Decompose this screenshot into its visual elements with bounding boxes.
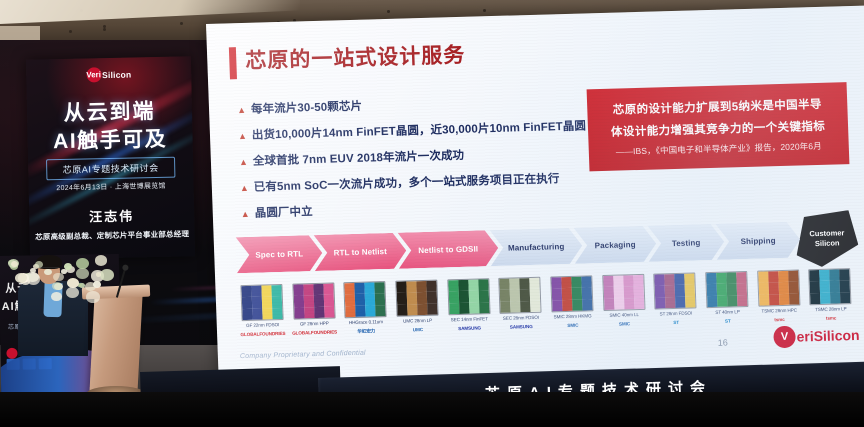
foundry-logo: UMC [413,326,423,333]
die-photo [240,284,283,321]
flow-stage-manufacturing[interactable]: Manufacturing [490,228,583,267]
die-photo [395,280,438,317]
verisilicon-logo-mark: V [773,326,796,349]
chip-caption: UMC 28nm LP [403,318,432,325]
chip-thumbnail: ST 40nm LPST [700,271,754,325]
flow-stage-label: Manufacturing [508,242,565,253]
ceiling-fixture [103,25,106,28]
foundry-logo: SMIC [619,320,630,327]
chip-thumbnail: UMC 28nm LPUMC [390,280,444,334]
flower [51,292,61,301]
verisilicon-logo-word: Silicon [102,69,131,80]
callout-line-2: 体设计能力增强其竞争力的一个关键指标 [611,118,826,140]
flower [66,287,79,298]
chip-thumbnail: GF 22nm FDSOIGLOBALFOUNDRIES [235,284,289,338]
flower [44,269,51,275]
triangle-bullet-icon: ▲ [239,155,248,169]
bullet-item: ▲已有5nm SoC一次流片成功，多个一站式服务项目正在执行 [240,171,590,195]
chip-thumbnail: SMIC 40nm LLSMIC [597,274,651,328]
verisilicon-logo-word: eriSilicon [796,327,860,345]
bullet-list: ▲每年流片30-50颗芯片▲出货10,000片14nm FinFET晶圆，近30… [237,93,592,233]
slide-surface: 芯原的一站式设计服务 ▲每年流片30-50颗芯片▲出货10,000片14nm F… [206,6,864,386]
foundry-logo: 华虹宏力 [357,327,375,334]
die-photo [808,268,851,305]
foundry-logo: tsmc [774,316,785,323]
chip-caption: TSMC 28nm HPC [761,308,797,315]
confidential-notice: Company Proprietary and Confidential [240,350,366,361]
foundry-logo: ST [725,317,731,324]
podium [89,290,143,398]
callout-box: 芯原的设计能力扩展到5纳米是中国半导 体设计能力增强其竞争力的一个关键指标 ——… [587,82,850,171]
bullet-text: 每年流片30-50颗芯片 [251,100,363,117]
flow-stage-shipping[interactable]: Shipping [715,222,800,260]
chip-thumbnail: GF 28nm HPPGLOBALFOUNDRIES [287,282,341,336]
flower [76,268,89,279]
flow-stage-packaging[interactable]: Packaging [574,226,657,264]
chip-caption: SMIC 28nm HKMG [554,313,592,320]
event-banner: Veri Silicon 从云到端 AI触手可及 芯原AI专题技术研讨会 202… [26,56,195,259]
chip-caption: ST 28nm FDSOI [659,311,692,318]
flower [95,255,107,266]
flower [96,272,102,277]
flow-stage-label: Packaging [595,240,636,250]
banner-speaker-title: 芯原高级副总裁、定制芯片平台事业部总经理 [34,228,191,242]
bullet-item: ▲全球首批 7nm EUV 2018年流片一次成功 [239,145,589,169]
bullet-item: ▲每年流片30-50颗芯片 [237,93,587,117]
chip-caption: SEC 28nm FDSOI [503,315,539,322]
flower [86,291,100,303]
chip-caption: ST 40nm LP [715,309,740,316]
customer-silicon-endpoint: Customer Silicon [795,210,859,268]
projected-slide: 芯原的一站式设计服务 ▲每年流片30-50颗芯片▲出货10,000片14nm F… [206,6,864,386]
slide-verisilicon-logo: V eriSilicon [773,324,860,348]
flower-arrangement [6,255,114,301]
die-photo [757,270,800,307]
flower [53,273,63,282]
die-photo [292,283,335,320]
chip-caption: TSMC 28nm LP [815,306,847,313]
foundry-logo: GLOBALFOUNDRIES [240,330,285,338]
verisilicon-logo-mark: Veri [86,67,101,82]
ceiling-fixture [69,30,72,33]
page-number: 16 [718,338,728,348]
foundry-logo: SAMSUNG [458,324,481,332]
callout-line-1: 芯原的设计能力扩展到5纳米是中国半导 [612,96,822,118]
flower [15,273,27,283]
slide-title: 芯原的一站式设计服务 [245,39,466,75]
flow-stage-label: Testing [672,238,701,248]
bullet-text: 已有5nm SoC一次流片成功，多个一站式服务项目正在执行 [254,172,560,195]
die-photo [602,274,645,311]
chip-thumbnail: TSMC 28nm HPCtsmc [752,269,806,323]
conference-stage-photo: Veri Silicon 从云到端 AI触手可及 芯原AI专题技术研讨会 202… [0,0,864,427]
bullet-text: 晶圆厂中立 [254,205,312,221]
title-accent-bar [229,47,237,79]
chip-thumbnail: SMIC 28nm HKMGSMIC [545,275,599,329]
flow-stage-testing[interactable]: Testing [647,224,724,262]
verisilicon-logo: Veri Silicon [86,67,132,83]
flower [100,269,114,281]
chip-thumbnail: SEC 28nm FDSOISAMSUNG [494,277,548,331]
foundry-logo: SMIC [567,322,578,329]
callout-source: ——IBS，《中国电子和半导体产业》报告，2020年6月 [616,140,822,158]
chip-thumbnail: SEC 14nm FinFETSAMSUNG [442,278,496,332]
flow-stage-label: RTL to Netlist [333,247,387,257]
banner-headline-2: AI触手可及 [27,122,193,155]
flower [26,272,38,283]
chip-caption: SMIC 40nm LL [609,312,639,319]
die-photo [343,281,386,318]
ceiling-fixture [387,10,390,13]
ceiling-fixture [103,28,106,31]
chip-thumbnail: TSMC 28nm LPtsmc [804,268,858,322]
foundry-logo: GLOBALFOUNDRIES [292,328,337,336]
chip-caption: HHGrace 0.11um [349,319,383,326]
triangle-bullet-icon: ▲ [238,129,247,143]
flower [93,281,101,288]
bullet-item: ▲晶圆厂中立 [241,197,591,221]
die-photo [705,271,748,308]
flower [35,261,43,268]
chip-caption: GF 28nm HPP [300,321,329,328]
bullet-text: 出货10,000片14nm FinFET晶圆，近30,000片10nm FinF… [252,119,587,142]
bullet-text: 全球首批 7nm EUV 2018年流片一次成功 [253,149,465,169]
endpoint-line-2: Silicon [815,238,840,249]
flow-stage-label: Shipping [740,236,775,246]
chip-gallery: GF 22nm FDSOIGLOBALFOUNDRIESGF 28nm HPPG… [235,268,857,338]
flower [76,258,90,270]
foundry-logo: ST [673,319,679,326]
flow-stage-spec-to-rtl[interactable]: Spec to RTL [236,235,323,273]
die-photo [550,275,593,312]
die-photo [498,277,541,314]
foundry-logo: SAMSUNG [510,323,533,331]
flow-stage-netlist-to-gdsii[interactable]: Netlist to GDSII [398,230,499,269]
foundry-logo: tsmc [826,315,837,322]
chip-thumbnail: ST 28nm FDSOIST [649,272,703,326]
triangle-bullet-icon: ▲ [237,103,246,117]
ceiling-fixture [180,22,183,25]
chip-caption: GF 22nm FDSOI [246,322,279,329]
banner-date-venue: 2024年6月13日 · 上海世博展览馆 [29,180,194,193]
die-photo [447,278,490,315]
banner-speaker-name: 汪志伟 [29,204,194,226]
flow-stage-label: Spec to RTL [255,249,303,259]
flow-stage-rtl-to-netlist[interactable]: RTL to Netlist [314,233,407,272]
flow-stage-label: Netlist to GDSII [418,244,478,255]
bullet-item: ▲出货10,000片14nm FinFET晶圆，近30,000片10nm Fin… [238,119,588,143]
foreground-shadow [0,392,864,427]
chip-thumbnail: HHGrace 0.11um华虹宏力 [339,281,393,335]
flower [11,261,18,267]
die-photo [653,272,696,309]
triangle-bullet-icon: ▲ [241,207,250,221]
banner-subtitle: 芯原AI专题技术研讨会 [46,157,175,181]
ceiling-fixture [483,9,486,12]
triangle-bullet-icon: ▲ [240,181,249,195]
chip-caption: SEC 14nm FinFET [451,316,488,323]
